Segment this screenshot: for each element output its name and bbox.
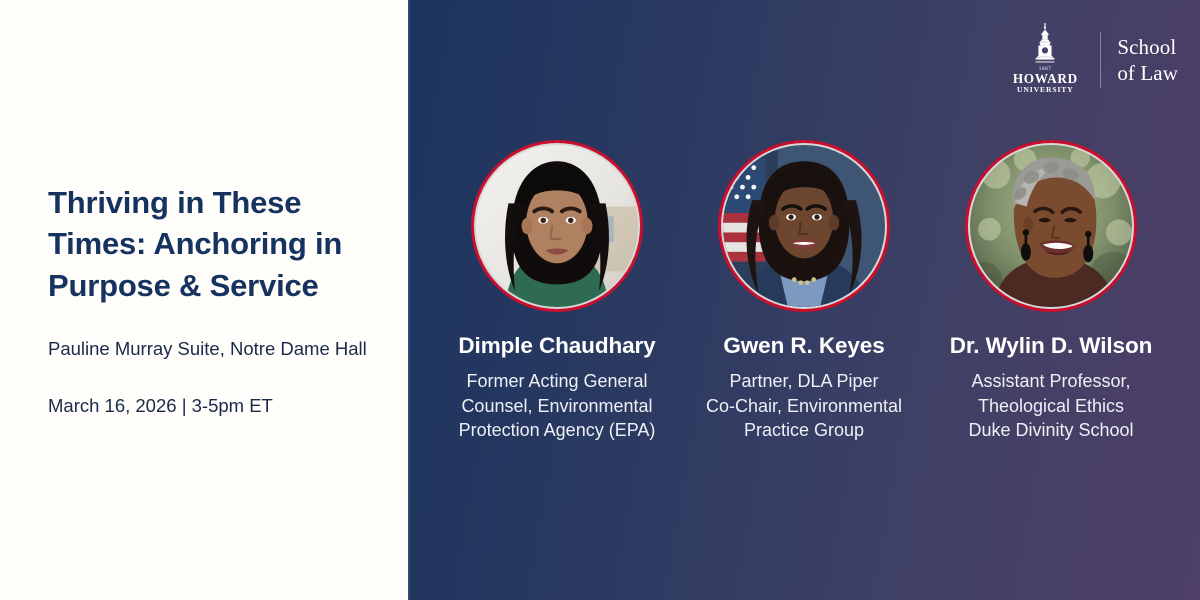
university-subtitle: UNIVERSITY (1017, 86, 1074, 94)
page-title: Thriving in These Times: Anchoring in Pu… (48, 182, 368, 307)
logo-divider (1100, 32, 1101, 88)
event-datetime: March 16, 2026 | 3-5pm ET (48, 393, 368, 419)
speaker-title: Former Acting General Counsel, Environme… (459, 369, 656, 443)
speaker-name: Dr. Wylin D. Wilson (950, 334, 1153, 359)
avatar (471, 140, 643, 312)
speaker-card: Dr. Wylin D. Wilson Assistant Professor,… (928, 140, 1175, 443)
portrait-gwen-r-keyes (723, 145, 885, 307)
event-info-panel: Thriving in These Times: Anchoring in Pu… (0, 0, 408, 600)
speaker-card: Gwen R. Keyes Partner, DLA Piper Co-Chai… (681, 140, 928, 443)
speaker-name: Gwen R. Keyes (723, 334, 884, 359)
speaker-card: Dimple Chaudhary Former Acting General C… (434, 140, 681, 443)
speaker-name: Dimple Chaudhary (458, 334, 655, 359)
portrait-dimple-chaudhary (476, 145, 638, 307)
speaker-title: Assistant Professor, Theological Ethics … (968, 369, 1133, 443)
howard-university-mark: 1867 HOWARD UNIVERSITY (1006, 26, 1088, 94)
portrait-wylin-d-wilson (970, 145, 1132, 307)
howard-founders-library-tower-icon (1028, 23, 1062, 65)
speaker-title: Partner, DLA Piper Co-Chair, Environment… (706, 369, 902, 443)
howard-law-logo: 1867 HOWARD UNIVERSITY School of Law (1006, 24, 1178, 96)
avatar (965, 140, 1137, 312)
avatar (718, 140, 890, 312)
event-banner: Thriving in These Times: Anchoring in Pu… (0, 0, 1200, 600)
school-of-law-label: School of Law (1117, 34, 1178, 87)
howard-wordmark: 1867 HOWARD UNIVERSITY (1013, 67, 1078, 95)
event-venue: Pauline Murray Suite, Notre Dame Hall (48, 336, 368, 362)
university-name: HOWARD (1013, 72, 1078, 85)
speakers-list: Dimple Chaudhary Former Acting General C… (408, 140, 1200, 443)
established-year: 1867 (1039, 66, 1052, 71)
